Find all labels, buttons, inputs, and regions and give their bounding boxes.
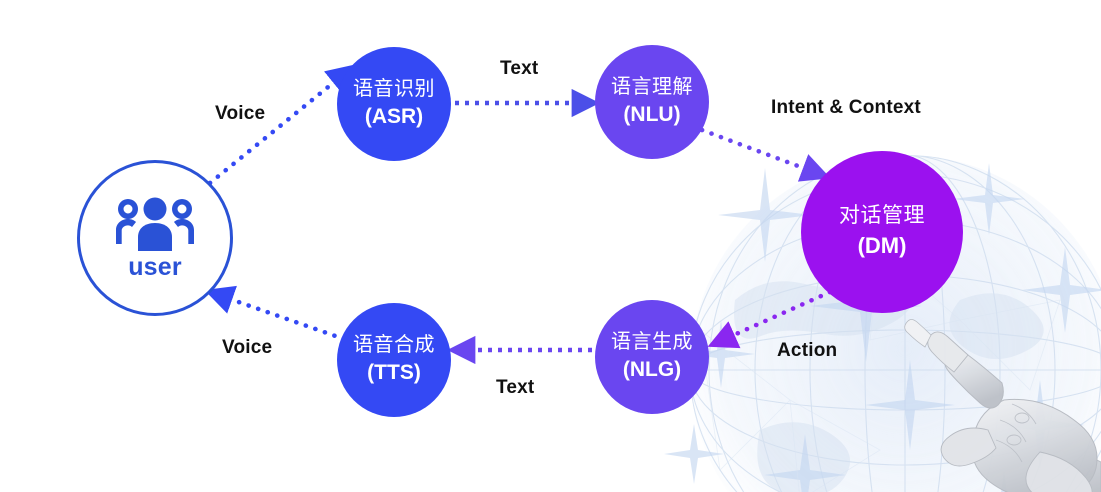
node-nlg-cn-label: 语言生成 <box>611 330 693 356</box>
node-asr[interactable]: 语音识别 (ASR) <box>337 47 451 161</box>
diagram-canvas: user 语音识别 (ASR) 语言理解 (NLU) 对话管理 (DM) 语言生… <box>0 0 1101 492</box>
robotic-hand-graphic <box>905 320 1101 492</box>
edge-label-text-top: Text <box>500 58 538 80</box>
node-asr-cn-label: 语音识别 <box>353 77 435 103</box>
node-nlg[interactable]: 语言生成 (NLG) <box>595 300 709 414</box>
node-dm-cn-label: 对话管理 <box>839 203 925 230</box>
edge-label-voice-bottom: Voice <box>222 337 272 359</box>
edge-label-intent-context: Intent & Context <box>771 97 921 119</box>
node-tts-en-label: (TTS) <box>367 360 421 387</box>
node-tts-cn-label: 语音合成 <box>353 333 435 359</box>
edge-label-voice-top: Voice <box>215 103 265 125</box>
edge-label-text-bottom: Text <box>496 377 534 399</box>
node-tts[interactable]: 语音合成 (TTS) <box>337 303 451 417</box>
node-user-label: user <box>128 253 182 282</box>
edge-user-asr <box>210 70 349 183</box>
edge-dm-nlg <box>716 292 830 343</box>
node-asr-en-label: (ASR) <box>365 104 423 131</box>
node-nlu-cn-label: 语言理解 <box>611 75 693 101</box>
node-nlu-en-label: (NLU) <box>623 102 680 129</box>
node-dm[interactable]: 对话管理 (DM) <box>801 151 963 313</box>
edge-tts-user <box>213 293 344 339</box>
node-nlg-en-label: (NLG) <box>623 357 681 384</box>
node-dm-en-label: (DM) <box>858 232 907 260</box>
people-icon <box>112 195 198 251</box>
edge-label-action: Action <box>777 340 837 362</box>
node-nlu[interactable]: 语言理解 (NLU) <box>595 45 709 159</box>
node-user[interactable]: user <box>77 160 233 316</box>
edge-nlu-dm <box>702 130 822 175</box>
